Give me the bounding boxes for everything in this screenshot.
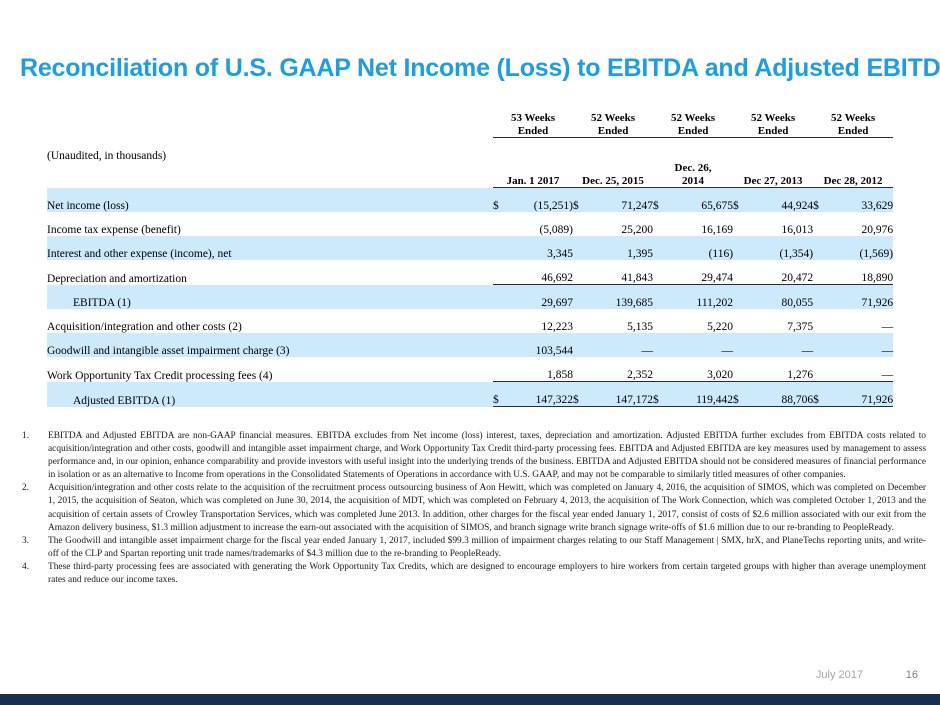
row-value: 44,924 bbox=[747, 188, 813, 213]
row-currency bbox=[573, 357, 587, 382]
row-value: 88,706 bbox=[747, 382, 813, 407]
financial-table-container: 53 Weeks Ended 52 Weeks Ended 52 Weeks E… bbox=[47, 112, 893, 407]
row-value: (15,251) bbox=[507, 188, 573, 213]
row-value: 46,692 bbox=[507, 260, 573, 285]
table-row: Goodwill and intangible asset impairment… bbox=[47, 333, 893, 357]
period-header-1: 52 Weeks Ended bbox=[573, 112, 653, 138]
date-header-row: Jan. 1 2017 Dec. 25, 2015 Dec. 26, 2014 … bbox=[47, 162, 893, 188]
row-currency bbox=[813, 260, 827, 285]
row-value: 71,247 bbox=[587, 188, 653, 213]
footnote-number: 1. bbox=[14, 430, 48, 443]
row-value: 2,352 bbox=[587, 357, 653, 382]
footnote-number: 4. bbox=[14, 561, 48, 574]
bottom-accent-bar bbox=[0, 694, 940, 705]
row-currency: $ bbox=[653, 382, 667, 407]
row-label: EBITDA (1) bbox=[47, 285, 493, 310]
row-value: 103,544 bbox=[507, 333, 573, 357]
row-currency bbox=[733, 357, 747, 382]
table-row-subtotal: EBITDA (1) 29,697 139,685 111,202 80,055… bbox=[47, 285, 893, 310]
row-value: 65,675 bbox=[667, 188, 733, 213]
row-value: 1,276 bbox=[747, 357, 813, 382]
footnote-item: 2. Acquisition/integration and other cos… bbox=[14, 482, 926, 534]
row-currency: $ bbox=[493, 382, 507, 407]
row-currency bbox=[493, 285, 507, 310]
row-currency bbox=[493, 212, 507, 236]
row-value: 29,474 bbox=[667, 260, 733, 285]
table-row: Acquisition/integration and other costs … bbox=[47, 309, 893, 333]
row-currency bbox=[813, 285, 827, 310]
row-value: 16,169 bbox=[667, 212, 733, 236]
slide-canvas: Reconciliation of U.S. GAAP Net Income (… bbox=[0, 0, 940, 705]
row-label: Acquisition/integration and other costs … bbox=[47, 309, 493, 333]
row-value: — bbox=[827, 333, 893, 357]
row-value: 1,858 bbox=[507, 357, 573, 382]
row-value: 5,220 bbox=[667, 309, 733, 333]
period-header-0: 53 Weeks Ended bbox=[493, 112, 573, 138]
table-caption: (Unaudited, in thousands) bbox=[47, 138, 493, 163]
row-label: Depreciation and amortization bbox=[47, 260, 493, 285]
table-row: Net income (loss) $ (15,251) $ 71,247 $ … bbox=[47, 188, 893, 213]
period-header-4: 52 Weeks Ended bbox=[813, 112, 893, 138]
row-currency bbox=[733, 333, 747, 357]
row-value: 147,322 bbox=[507, 382, 573, 407]
row-currency bbox=[733, 236, 747, 260]
footer-page-number: 16 bbox=[906, 669, 918, 681]
row-value: 7,375 bbox=[747, 309, 813, 333]
row-currency bbox=[733, 309, 747, 333]
row-currency bbox=[813, 212, 827, 236]
row-value: 119,442 bbox=[667, 382, 733, 407]
row-value: — bbox=[827, 357, 893, 382]
row-currency bbox=[493, 333, 507, 357]
row-currency bbox=[493, 236, 507, 260]
row-currency: $ bbox=[573, 188, 587, 213]
footnote-text: The Goodwill and intangible asset impair… bbox=[48, 535, 926, 561]
row-value: (1,354) bbox=[747, 236, 813, 260]
row-currency bbox=[653, 333, 667, 357]
row-currency: $ bbox=[733, 188, 747, 213]
footer-date: July 2017 bbox=[816, 669, 863, 681]
row-value: 12,223 bbox=[507, 309, 573, 333]
footnote-item: 1. EBITDA and Adjusted EBITDA are non-GA… bbox=[14, 430, 926, 482]
row-value: 41,843 bbox=[587, 260, 653, 285]
row-currency: $ bbox=[573, 382, 587, 407]
row-currency bbox=[573, 333, 587, 357]
row-value: 71,926 bbox=[827, 285, 893, 310]
table-row: Depreciation and amortization 46,692 41,… bbox=[47, 260, 893, 285]
row-value: 18,890 bbox=[827, 260, 893, 285]
row-currency bbox=[653, 309, 667, 333]
row-currency bbox=[813, 236, 827, 260]
row-value: 3,345 bbox=[507, 236, 573, 260]
row-label: Goodwill and intangible asset impairment… bbox=[47, 333, 493, 357]
row-value: 111,202 bbox=[667, 285, 733, 310]
table-row: Income tax expense (benefit) (5,089) 25,… bbox=[47, 212, 893, 236]
row-currency bbox=[813, 333, 827, 357]
row-value: 20,976 bbox=[827, 212, 893, 236]
period-header-2: 52 Weeks Ended bbox=[653, 112, 733, 138]
row-currency: $ bbox=[813, 382, 827, 407]
row-currency bbox=[493, 357, 507, 382]
row-label: Interest and other expense (income), net bbox=[47, 236, 493, 260]
row-currency: $ bbox=[733, 382, 747, 407]
row-currency bbox=[653, 285, 667, 310]
footnote-item: 3. The Goodwill and intangible asset imp… bbox=[14, 535, 926, 561]
row-value: 20,472 bbox=[747, 260, 813, 285]
table-row-total: Adjusted EBITDA (1) $ 147,322 $ 147,172 … bbox=[47, 382, 893, 407]
row-value: 25,200 bbox=[587, 212, 653, 236]
row-value: — bbox=[587, 333, 653, 357]
period-header-3: 52 Weeks Ended bbox=[733, 112, 813, 138]
date-header-1: Dec. 25, 2015 bbox=[573, 162, 653, 188]
table-header: 53 Weeks Ended 52 Weeks Ended 52 Weeks E… bbox=[47, 112, 893, 188]
row-currency bbox=[733, 260, 747, 285]
row-currency bbox=[573, 236, 587, 260]
row-currency bbox=[493, 309, 507, 333]
row-currency bbox=[653, 212, 667, 236]
row-value: — bbox=[827, 309, 893, 333]
row-value: 3,020 bbox=[667, 357, 733, 382]
row-currency bbox=[813, 309, 827, 333]
footnotes-list: 1. EBITDA and Adjusted EBITDA are non-GA… bbox=[14, 430, 926, 587]
caption-row: (Unaudited, in thousands) bbox=[47, 138, 893, 163]
row-currency: $ bbox=[493, 188, 507, 213]
page-title: Reconciliation of U.S. GAAP Net Income (… bbox=[20, 54, 940, 83]
row-currency bbox=[573, 260, 587, 285]
row-label: Work Opportunity Tax Credit processing f… bbox=[47, 357, 493, 382]
date-header-4: Dec 28, 2012 bbox=[813, 162, 893, 188]
row-currency bbox=[573, 212, 587, 236]
row-label: Income tax expense (benefit) bbox=[47, 212, 493, 236]
table-body: Net income (loss) $ (15,251) $ 71,247 $ … bbox=[47, 188, 893, 407]
date-header-2: Dec. 26, 2014 bbox=[653, 162, 733, 188]
row-currency bbox=[653, 357, 667, 382]
row-value: 71,926 bbox=[827, 382, 893, 407]
footnote-text: Acquisition/integration and other costs … bbox=[48, 482, 926, 534]
row-value: (116) bbox=[667, 236, 733, 260]
row-currency bbox=[733, 285, 747, 310]
row-currency bbox=[813, 357, 827, 382]
row-value: (1,569) bbox=[827, 236, 893, 260]
row-value: 33,629 bbox=[827, 188, 893, 213]
row-currency bbox=[493, 260, 507, 285]
row-currency bbox=[653, 260, 667, 285]
row-value: 16,013 bbox=[747, 212, 813, 236]
row-value: 29,697 bbox=[507, 285, 573, 310]
table-row: Work Opportunity Tax Credit processing f… bbox=[47, 357, 893, 382]
row-value: 1,395 bbox=[587, 236, 653, 260]
row-currency: $ bbox=[653, 188, 667, 213]
date-header-0: Jan. 1 2017 bbox=[493, 162, 573, 188]
row-value: 80,055 bbox=[747, 285, 813, 310]
row-value: (5,089) bbox=[507, 212, 573, 236]
row-currency bbox=[653, 236, 667, 260]
row-currency: $ bbox=[813, 188, 827, 213]
footnote-number: 3. bbox=[14, 535, 48, 548]
row-value: 139,685 bbox=[587, 285, 653, 310]
row-label: Net income (loss) bbox=[47, 188, 493, 213]
date-header-3: Dec 27, 2013 bbox=[733, 162, 813, 188]
footnote-item: 4. These third-party processing fees are… bbox=[14, 561, 926, 587]
row-currency bbox=[733, 212, 747, 236]
reconciliation-table: 53 Weeks Ended 52 Weeks Ended 52 Weeks E… bbox=[47, 112, 893, 407]
row-currency bbox=[573, 309, 587, 333]
table-row: Interest and other expense (income), net… bbox=[47, 236, 893, 260]
footnote-text: These third-party processing fees are as… bbox=[48, 561, 926, 587]
row-currency bbox=[573, 285, 587, 310]
period-header-row: 53 Weeks Ended 52 Weeks Ended 52 Weeks E… bbox=[47, 112, 893, 138]
row-value: — bbox=[667, 333, 733, 357]
row-value: — bbox=[747, 333, 813, 357]
row-label: Adjusted EBITDA (1) bbox=[47, 382, 493, 407]
footnote-text: EBITDA and Adjusted EBITDA are non-GAAP … bbox=[48, 430, 926, 482]
footnote-number: 2. bbox=[14, 482, 48, 495]
row-value: 5,135 bbox=[587, 309, 653, 333]
row-value: 147,172 bbox=[587, 382, 653, 407]
